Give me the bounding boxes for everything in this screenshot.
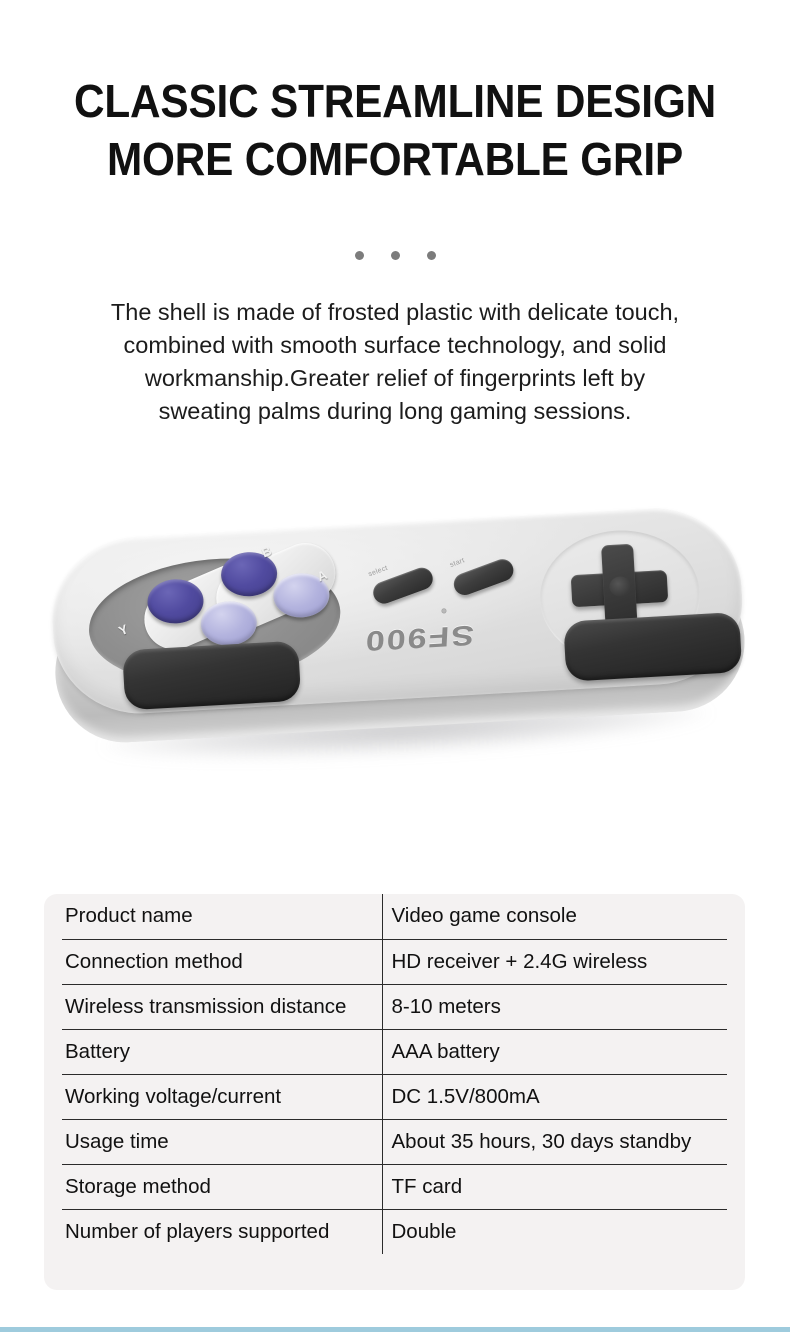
table-row: Number of players supported Double <box>62 1209 727 1254</box>
specifications-panel: Product name Video game console Connecti… <box>44 894 745 1290</box>
spec-key: Product name <box>62 894 382 939</box>
shoulder-button-left[interactable] <box>122 641 301 711</box>
product-image: Y B X A select start SF900 <box>0 470 790 850</box>
description-line-2: combined with smooth surface technology,… <box>60 329 730 362</box>
description-line-3: workmanship.Greater relief of fingerprin… <box>60 362 730 395</box>
start-button-label: start <box>449 557 466 569</box>
description-line-1: The shell is made of frosted plastic wit… <box>60 296 730 329</box>
divider-dot <box>355 251 364 260</box>
spec-value: Double <box>382 1209 727 1254</box>
spec-value: TF card <box>382 1164 727 1209</box>
spec-key: Usage time <box>62 1119 382 1164</box>
spec-key: Working voltage/current <box>62 1074 382 1119</box>
divider-dot <box>427 251 436 260</box>
specifications-table-body: Product name Video game console Connecti… <box>62 894 727 1254</box>
table-row: Battery AAA battery <box>62 1029 727 1074</box>
table-row: Working voltage/current DC 1.5V/800mA <box>62 1074 727 1119</box>
table-row: Product name Video game console <box>62 894 727 939</box>
game-controller: Y B X A select start SF900 <box>30 495 768 785</box>
spec-value: AAA battery <box>382 1029 727 1074</box>
spec-value: Video game console <box>382 894 727 939</box>
headline-line-2: MORE COMFORTABLE GRIP <box>32 130 759 188</box>
bottom-accent-bar <box>0 1327 790 1332</box>
shoulder-button-right[interactable] <box>563 612 742 682</box>
brand-wordmark: SF900 <box>363 618 475 656</box>
select-button-label: select <box>368 565 389 579</box>
table-row: Wireless transmission distance 8-10 mete… <box>62 984 727 1029</box>
spec-key: Connection method <box>62 939 382 984</box>
product-detail-page: CLASSIC STREAMLINE DESIGN MORE COMFORTAB… <box>0 0 790 1332</box>
page-title: CLASSIC STREAMLINE DESIGN MORE COMFORTAB… <box>32 72 759 188</box>
spec-key: Number of players supported <box>62 1209 382 1254</box>
table-row: Storage method TF card <box>62 1164 727 1209</box>
spec-value: About 35 hours, 30 days standby <box>382 1119 727 1164</box>
specifications-table: Product name Video game console Connecti… <box>62 894 727 1254</box>
spec-value: 8-10 meters <box>382 984 727 1029</box>
spec-value: HD receiver + 2.4G wireless <box>382 939 727 984</box>
spec-key: Battery <box>62 1029 382 1074</box>
spec-value: DC 1.5V/800mA <box>382 1074 727 1119</box>
divider-dot <box>391 251 400 260</box>
table-row: Usage time About 35 hours, 30 days stand… <box>62 1119 727 1164</box>
spec-key: Wireless transmission distance <box>62 984 382 1029</box>
description-line-4: sweating palms during long gaming sessio… <box>60 395 730 428</box>
description-paragraph: The shell is made of frosted plastic wit… <box>60 296 730 428</box>
table-row: Connection method HD receiver + 2.4G wir… <box>62 939 727 984</box>
dot-divider <box>0 251 790 260</box>
headline-line-1: CLASSIC STREAMLINE DESIGN <box>32 72 759 130</box>
spec-key: Storage method <box>62 1164 382 1209</box>
led-indicator <box>441 608 446 613</box>
